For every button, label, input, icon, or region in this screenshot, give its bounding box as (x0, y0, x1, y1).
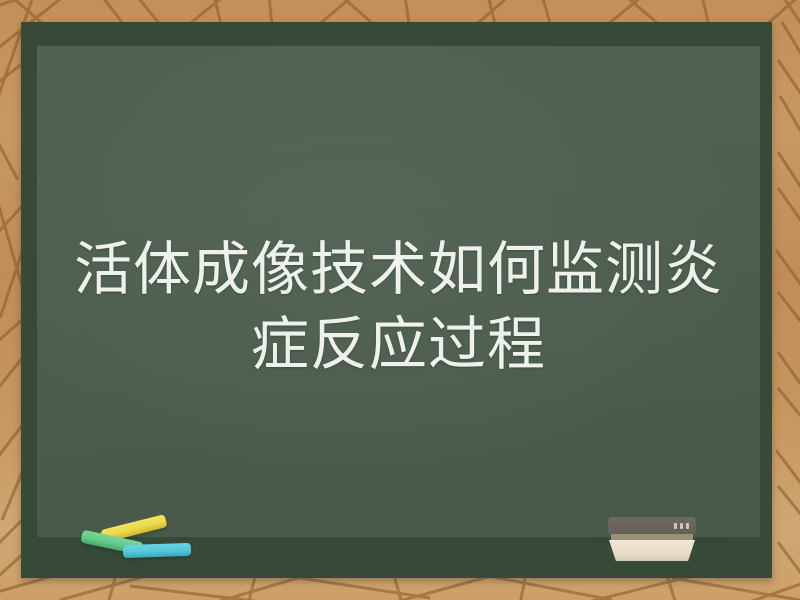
page-title: 活体成像技术如何监测炎症反应过程 (37, 232, 760, 382)
chalkboard-surface: 活体成像技术如何监测炎症反应过程 (37, 46, 760, 537)
eraser-dot (680, 523, 683, 529)
eraser-grip-dots (674, 523, 689, 529)
eraser-band (611, 534, 693, 540)
eraser-handle (608, 517, 696, 534)
chalk-tray-group (81, 514, 201, 569)
eraser-felt (609, 540, 695, 561)
blackboard-eraser[interactable] (608, 517, 696, 562)
eraser-dot (674, 523, 677, 529)
chalkboard-title-card: 活体成像技术如何监测炎症反应过程 (0, 0, 800, 600)
eraser-dot (686, 523, 689, 529)
chalkboard-frame: 活体成像技术如何监测炎症反应过程 (21, 22, 772, 578)
chalk-stick-cyan[interactable] (123, 543, 191, 558)
